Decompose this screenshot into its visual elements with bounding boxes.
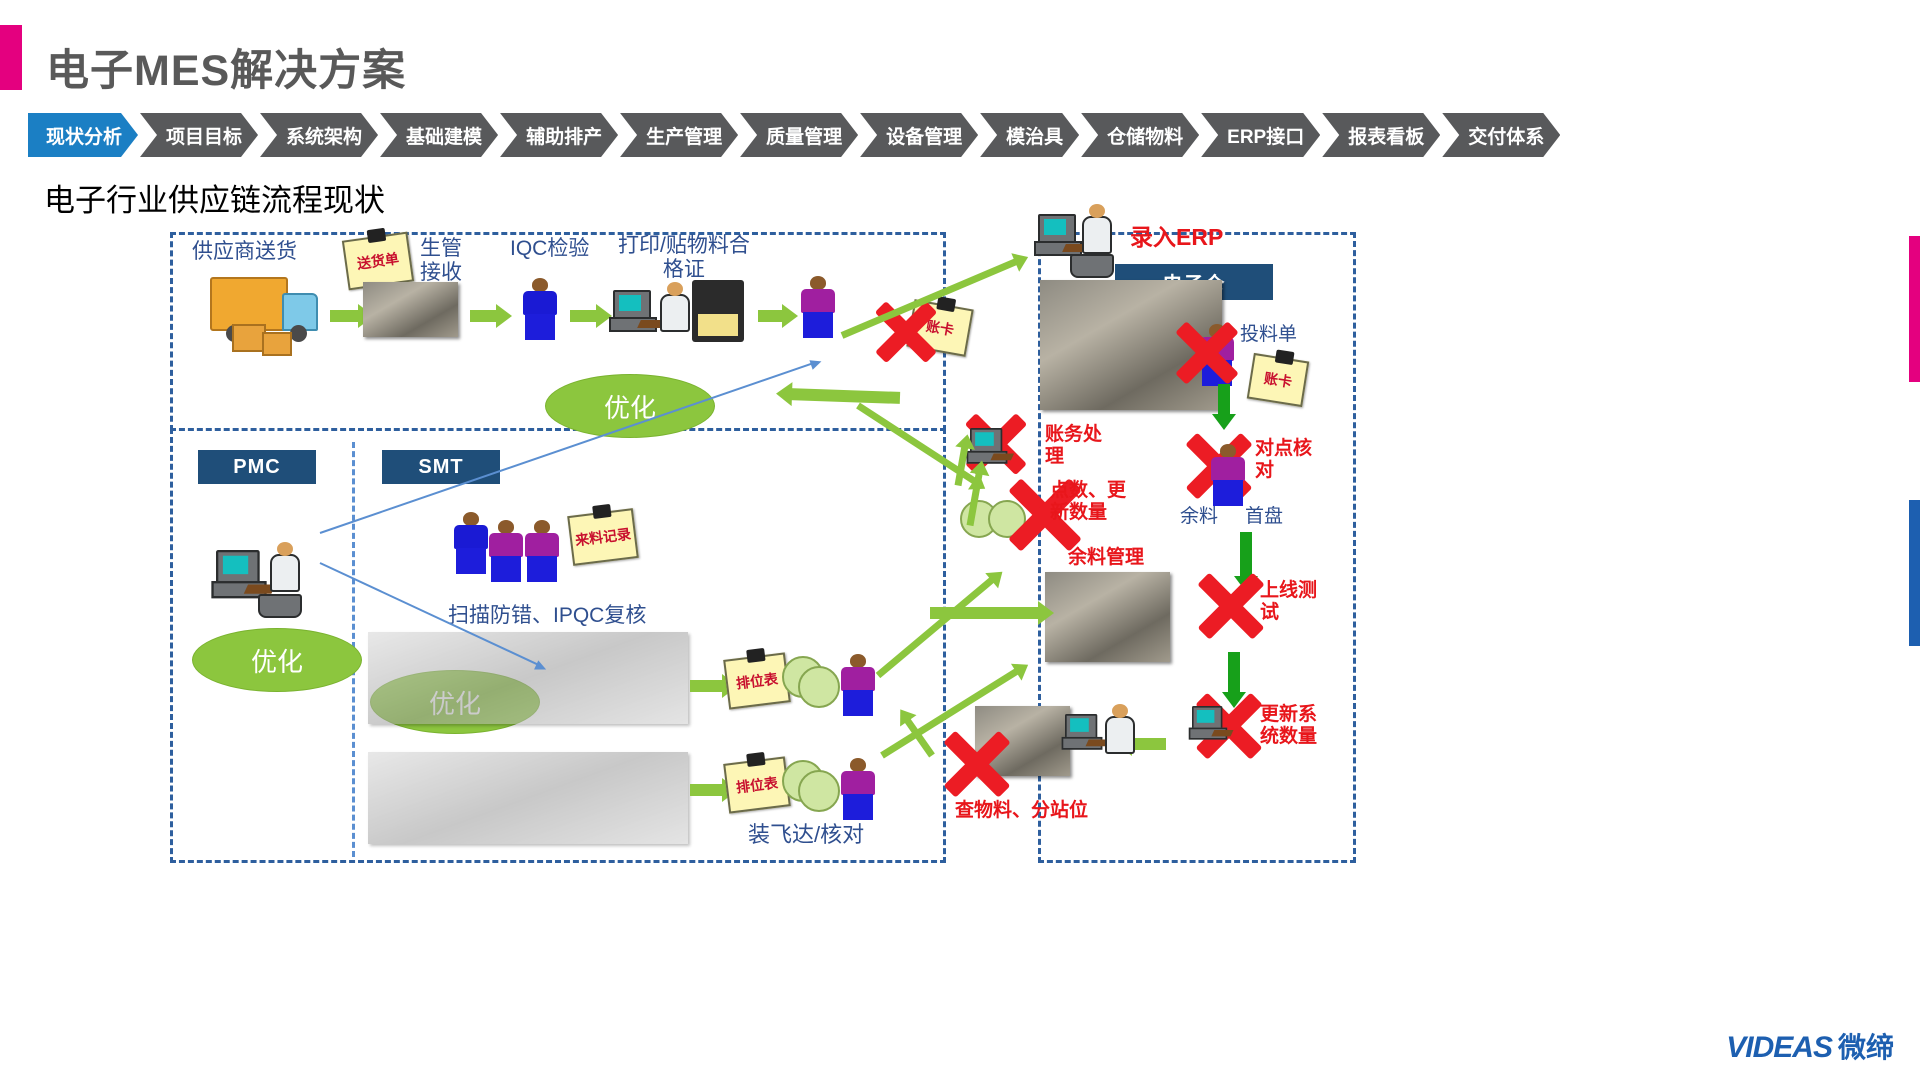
chair-icon — [258, 594, 302, 618]
breadcrumb-item-0[interactable]: 现状分析 — [28, 113, 138, 157]
operator-icon — [660, 294, 690, 332]
label-online-test: 上线测 试 — [1260, 580, 1317, 624]
carton-icon — [262, 332, 292, 356]
breadcrumb-item-8[interactable]: 模治具 — [980, 113, 1079, 157]
carton-icon — [232, 324, 266, 352]
label-first-reel: 首盘 — [1245, 506, 1283, 528]
placement-table-note-icon: 排位表 — [723, 652, 791, 709]
chair-icon — [1070, 254, 1114, 278]
account-card-icon: 账卡 — [1247, 353, 1310, 407]
label-accounting: 账务处 理 — [1045, 424, 1102, 468]
supply-chain-flow-diagram: 供应商送货 送货单 生管 接收 IQC检验 打印/贴物料合 格证 账卡 录入ER… — [170, 232, 1350, 857]
breadcrumb-item-7[interactable]: 设备管理 — [860, 113, 978, 157]
company-logo: VIDEAS 微缔 — [1726, 1026, 1894, 1066]
flow-arrow — [570, 310, 598, 322]
smt-worker-icon — [490, 520, 522, 576]
breadcrumb-item-11[interactable]: 报表看板 — [1322, 113, 1440, 157]
label-printer-icon — [692, 280, 744, 342]
flow-arrow — [758, 310, 784, 322]
x-mark-icon — [938, 732, 1016, 796]
label-update-system-qty: 更新系 统数量 — [1260, 704, 1317, 748]
flow-label-supplier-delivery: 供应商送货 — [192, 240, 297, 264]
flow-arrow — [930, 607, 1040, 619]
note-label: 来料记录 — [571, 523, 635, 550]
breadcrumb-item-10[interactable]: ERP接口 — [1201, 113, 1320, 157]
down-arrow — [1218, 384, 1230, 416]
down-arrow — [1228, 652, 1240, 694]
breadcrumb-item-6[interactable]: 质量管理 — [740, 113, 858, 157]
x-mark-icon — [1170, 322, 1244, 384]
page-title: 电子MES解决方案 — [46, 36, 406, 98]
note-label: 排位表 — [727, 772, 787, 799]
iqc-inspector-icon — [522, 278, 558, 340]
smt-worker-icon — [455, 512, 487, 568]
flow-arrow — [330, 310, 360, 322]
breadcrumb-item-1[interactable]: 项目目标 — [140, 113, 258, 157]
lookup-operator-icon — [1105, 716, 1135, 754]
logo-name: 微缔 — [1838, 1026, 1894, 1066]
dept-box-pmc: PMC — [198, 450, 316, 484]
label-point-check: 对点核 对 — [1255, 438, 1312, 482]
label-find-material-station: 查物料、分站位 — [955, 800, 1088, 822]
breadcrumb-item-9[interactable]: 仓储物料 — [1081, 113, 1199, 157]
operator-icon — [842, 654, 874, 712]
checker-icon — [1212, 444, 1244, 500]
breadcrumb[interactable]: 现状分析 项目目标 系统架构 基础建模 辅助排产 生产管理 质量管理 设备管理 … — [28, 113, 1562, 157]
flow-label-pmc-receive: 生管 接收 — [420, 237, 462, 285]
flow-arrow — [470, 310, 498, 322]
flow-arrow — [690, 784, 724, 796]
label-erp-entry: 录入ERP — [1130, 224, 1223, 250]
label-remaining-material: 余料 — [1180, 506, 1218, 528]
reel-icon — [798, 770, 840, 812]
smt-line-photo — [368, 752, 688, 844]
label-count-update: 点数、更 新数量 — [1050, 480, 1126, 524]
breadcrumb-item-4[interactable]: 辅助排产 — [500, 113, 618, 157]
flow-arrow-left — [1130, 738, 1166, 750]
label-remaining-material-mgmt: 余料管理 — [1068, 547, 1144, 569]
note-label: 账卡 — [1251, 366, 1305, 394]
right-edge-accent-pink — [1909, 236, 1920, 382]
flow-label-print-label: 打印/贴物料合 格证 — [618, 234, 750, 282]
breadcrumb-item-12[interactable]: 交付体系 — [1442, 113, 1560, 157]
label-scan-ipqc: 扫描防错、IPQC复核 — [448, 580, 646, 628]
breadcrumb-item-3[interactable]: 基础建模 — [380, 113, 498, 157]
flow-label-iqc: IQC检验 — [510, 237, 589, 261]
label-issue-slip: 投料单 — [1240, 324, 1297, 346]
breadcrumb-item-5[interactable]: 生产管理 — [620, 113, 738, 157]
pmc-operator-icon — [270, 554, 300, 592]
incoming-record-note-icon: 来料记录 — [567, 508, 639, 566]
warehouse-dock-photo — [363, 282, 458, 337]
right-edge-accent-blue — [1909, 500, 1920, 646]
material-handler-icon — [800, 276, 836, 340]
note-label: 排位表 — [727, 668, 787, 695]
down-arrow — [1240, 532, 1252, 578]
flow-arrow — [690, 680, 724, 692]
smt-worker-icon — [526, 520, 558, 576]
logo-mark: VIDEAS — [1726, 1031, 1832, 1065]
note-label: 送货单 — [346, 247, 410, 275]
reel-icon — [798, 666, 840, 708]
operator-icon — [842, 758, 874, 816]
accent-bar — [0, 25, 22, 90]
remaining-material-photo — [1045, 572, 1170, 662]
x-mark-icon — [1192, 574, 1270, 638]
label-feeder-check: 装飞达/核对 — [748, 822, 864, 847]
breadcrumb-item-2[interactable]: 系统架构 — [260, 113, 378, 157]
dept-box-smt: SMT — [382, 450, 500, 484]
placement-table-note-icon: 排位表 — [723, 756, 791, 813]
smt-line-photo — [368, 632, 688, 724]
erp-operator-icon — [1082, 216, 1112, 254]
optimization-ellipse: 优化 — [192, 628, 362, 692]
section-subtitle: 电子行业供应链流程现状 — [44, 175, 385, 220]
